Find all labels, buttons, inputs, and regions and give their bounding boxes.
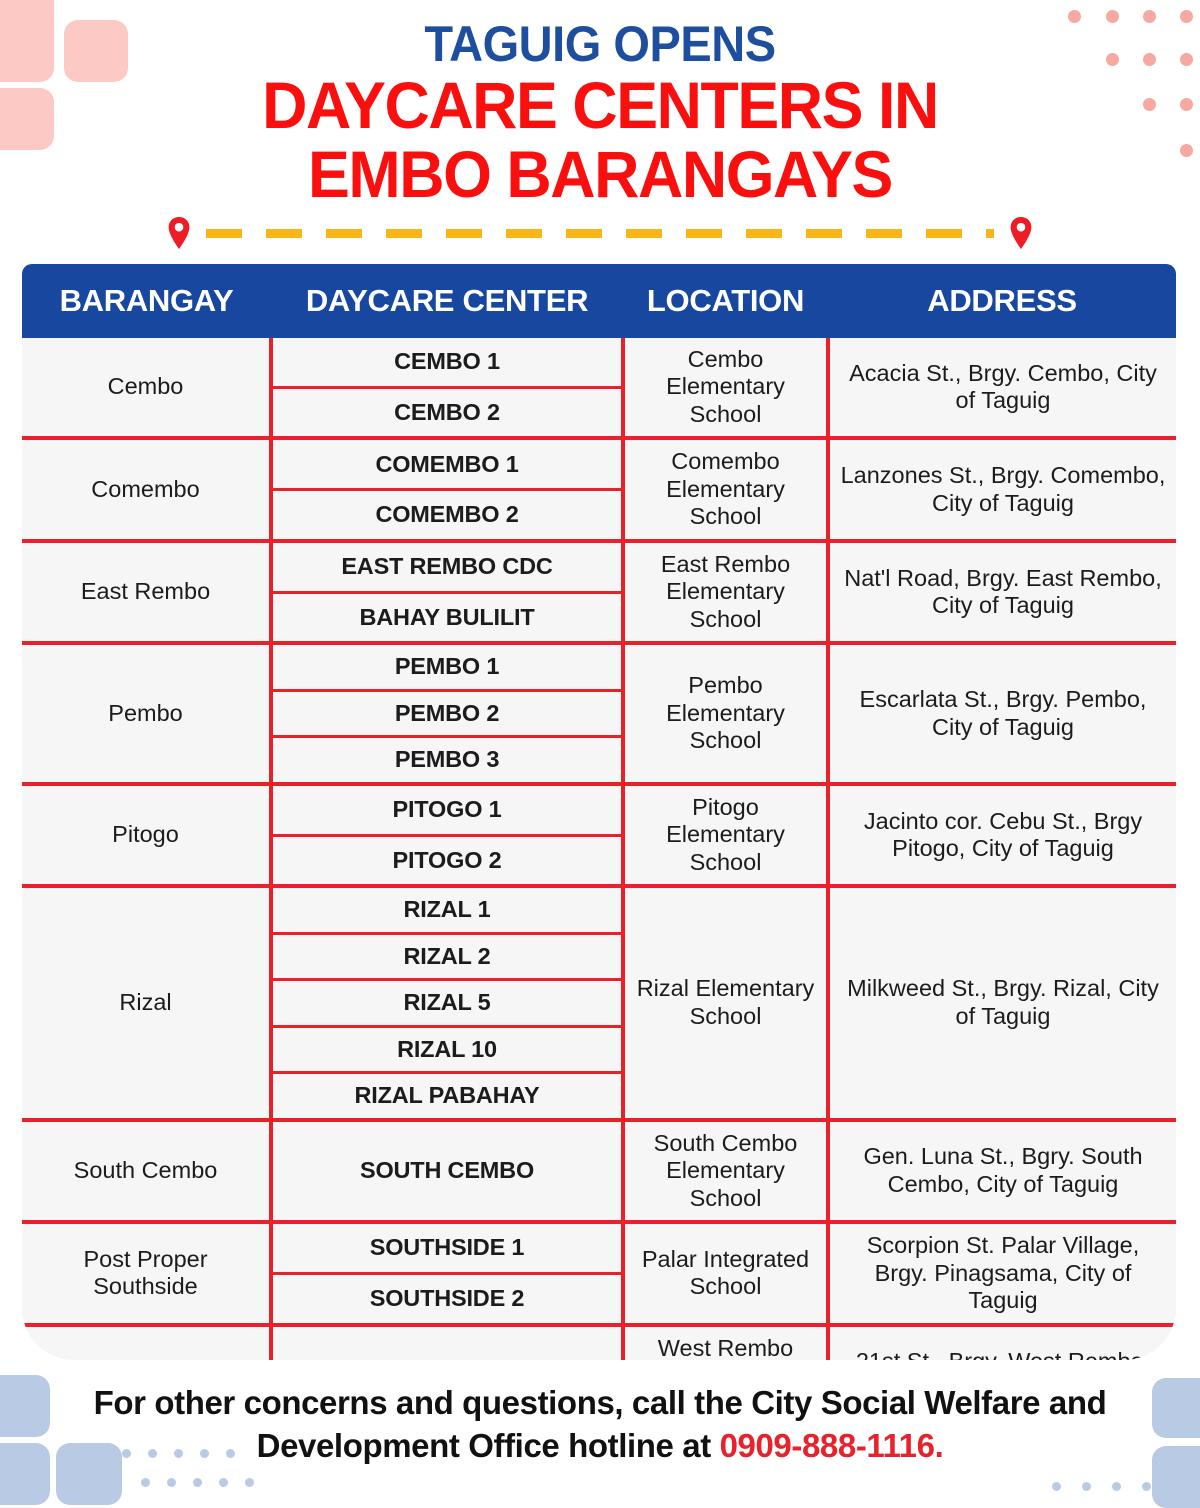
cell-barangay: Comembo: [22, 438, 271, 540]
cell-location: Cembo Elementary School: [623, 338, 828, 438]
title-line-1: TAGUIG OPENS: [36, 18, 1164, 71]
cell-daycare-center: SOUTHSIDE 2: [271, 1273, 623, 1324]
column-header-location: LOCATION: [623, 264, 828, 338]
cell-address: Jacinto cor. Cebu St., Brgy Pitogo, City…: [828, 784, 1176, 886]
map-pin-icon-left: [168, 217, 190, 249]
deco-dot-blue: [1082, 1482, 1091, 1491]
cell-location: Rizal Elementary School: [623, 886, 828, 1119]
table-row: South CemboSOUTH CEMBOSouth Cembo Elemen…: [22, 1120, 1176, 1222]
cell-daycare-center: EAST REMBO CDC: [271, 541, 623, 592]
route-divider: [168, 210, 1032, 256]
cell-location: Comembo Elementary School: [623, 438, 828, 540]
cell-daycare-center: BAHAY BULILIT: [271, 592, 623, 643]
footer-text: For other concerns and questions, call t…: [60, 1382, 1140, 1468]
title-line-2: DAYCARE CENTERS IN: [30, 71, 1170, 140]
cell-daycare-center: CEMBO 1: [271, 338, 623, 387]
cell-address: Milkweed St., Brgy. Rizal, City of Tagui…: [828, 886, 1176, 1119]
cell-daycare-center: PEMBO 1: [271, 643, 623, 690]
table-header: BARANGAY DAYCARE CENTER LOCATION ADDRESS: [22, 264, 1176, 338]
deco-dot-blue: [245, 1478, 254, 1487]
column-header-address: ADDRESS: [828, 264, 1176, 338]
cell-daycare-center: COMEMBO 1: [271, 438, 623, 489]
hotline-number[interactable]: 0909-888-1116.: [720, 1427, 944, 1464]
cell-daycare-center: RIZAL 1: [271, 886, 623, 933]
deco-dot-blue: [1142, 1482, 1151, 1491]
table-row: PemboPEMBO 1Pembo Elementary SchoolEscar…: [22, 643, 1176, 690]
cell-barangay: Cembo: [22, 338, 271, 438]
table-row: CemboCEMBO 1Cembo Elementary SchoolAcaci…: [22, 338, 1176, 387]
cell-daycare-center: COMEMBO 2: [271, 490, 623, 541]
cell-address: Escarlata St., Brgy. Pembo, City of Tagu…: [828, 643, 1176, 783]
table-header-row: BARANGAY DAYCARE CENTER LOCATION ADDRESS: [22, 264, 1176, 338]
table-row: ComemboCOMEMBO 1Comembo Elementary Schoo…: [22, 438, 1176, 489]
cell-daycare-center: WEST REMBO 1: [271, 1325, 623, 1360]
table-row: West RemboWEST REMBO 1West Rembo Element…: [22, 1325, 1176, 1360]
cell-barangay: Pembo: [22, 643, 271, 783]
poster-title: TAGUIG OPENS DAYCARE CENTERS IN EMBO BAR…: [0, 18, 1200, 208]
cell-address: Scorpion St. Palar Village, Brgy. Pinags…: [828, 1222, 1176, 1324]
deco-dot-blue: [219, 1478, 228, 1487]
cell-location: Pitogo Elementary School: [623, 784, 828, 886]
table-row: Post Proper SouthsideSOUTHSIDE 1Palar In…: [22, 1222, 1176, 1273]
table-row: PitogoPITOGO 1Pitogo Elementary SchoolJa…: [22, 784, 1176, 835]
cell-daycare-center: CEMBO 2: [271, 387, 623, 438]
cell-daycare-center: PEMBO 2: [271, 690, 623, 736]
deco-dot-blue: [193, 1478, 202, 1487]
table-body: CemboCEMBO 1Cembo Elementary SchoolAcaci…: [22, 338, 1176, 1360]
daycare-table-card: BARANGAY DAYCARE CENTER LOCATION ADDRESS…: [22, 264, 1176, 1360]
table-row: RizalRIZAL 1Rizal Elementary SchoolMilkw…: [22, 886, 1176, 933]
cell-barangay: Pitogo: [22, 784, 271, 886]
deco-dot-blue: [1112, 1482, 1121, 1491]
cell-barangay: Rizal: [22, 886, 271, 1119]
map-pin-icon-right: [1010, 217, 1032, 249]
cell-address: Gen. Luna St., Bgry. South Cembo, City o…: [828, 1120, 1176, 1222]
deco-dot-blue: [167, 1478, 176, 1487]
footer-message: For other concerns and questions, call t…: [94, 1384, 1107, 1464]
cell-daycare-center: PITOGO 2: [271, 835, 623, 886]
dashed-line: [206, 229, 994, 238]
deco-dot-blue: [1052, 1482, 1061, 1491]
cell-daycare-center: PEMBO 3: [271, 737, 623, 784]
cell-barangay: West Rembo: [22, 1325, 271, 1360]
cell-address: Nat'l Road, Brgy. East Rembo, City of Ta…: [828, 541, 1176, 643]
cell-daycare-center: SOUTH CEMBO: [271, 1120, 623, 1222]
cell-address: Lanzones St., Brgy. Comembo, City of Tag…: [828, 438, 1176, 540]
daycare-centers-table: BARANGAY DAYCARE CENTER LOCATION ADDRESS…: [22, 264, 1176, 1360]
cell-daycare-center: RIZAL 10: [271, 1026, 623, 1072]
cell-address: 21st St., Brgy. West Rembo, City of Tagu…: [828, 1325, 1176, 1360]
cell-barangay: Post Proper Southside: [22, 1222, 271, 1324]
cell-daycare-center: SOUTHSIDE 1: [271, 1222, 623, 1273]
title-line-3: EMBO BARANGAYS: [30, 140, 1170, 209]
cell-daycare-center: PITOGO 1: [271, 784, 623, 835]
cell-location: Pembo Elementary School: [623, 643, 828, 783]
cell-daycare-center: RIZAL PABAHAY: [271, 1073, 623, 1120]
deco-dot-blue: [141, 1478, 150, 1487]
footer-contact: For other concerns and questions, call t…: [0, 1382, 1200, 1468]
cell-location: East Rembo Elementary School: [623, 541, 828, 643]
cell-daycare-center: RIZAL 5: [271, 980, 623, 1026]
column-header-daycare-center: DAYCARE CENTER: [271, 264, 623, 338]
cell-location: Palar Integrated School: [623, 1222, 828, 1324]
cell-barangay: South Cembo: [22, 1120, 271, 1222]
cell-daycare-center: RIZAL 2: [271, 933, 623, 979]
cell-barangay: East Rembo: [22, 541, 271, 643]
column-header-barangay: BARANGAY: [22, 264, 271, 338]
table-row: East RemboEAST REMBO CDCEast Rembo Eleme…: [22, 541, 1176, 592]
cell-location: South Cembo Elementary School: [623, 1120, 828, 1222]
cell-address: Acacia St., Brgy. Cembo, City of Taguig: [828, 338, 1176, 438]
cell-location: West Rembo Elementary School: [623, 1325, 828, 1360]
